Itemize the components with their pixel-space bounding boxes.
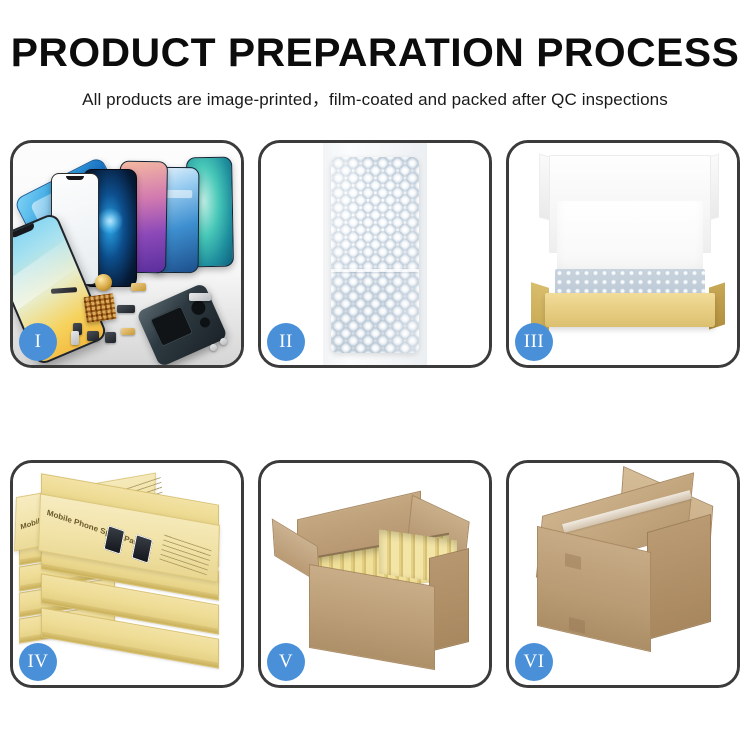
step-badge-2: II (267, 323, 305, 361)
small-part-b (87, 331, 99, 341)
phone-graphic-front-1 (104, 525, 125, 554)
step-badge-3: III (515, 323, 553, 361)
process-step-grid: I II III (10, 140, 740, 688)
step-badge-5: V (267, 643, 305, 681)
process-step-panel-4[interactable]: Mobile Phone Spare Parts Mobile Phone Sp… (10, 460, 244, 688)
small-part-e (121, 328, 135, 335)
carton-side-panel (647, 514, 711, 640)
retail-box-label-front: Mobile Phone Spare Parts (46, 508, 145, 549)
carton-right-side (429, 548, 469, 652)
white-foam-lining (557, 201, 703, 279)
process-step-panel-6[interactable]: VI (506, 460, 740, 688)
tweezers-tool (189, 293, 211, 301)
screw-part-b (210, 344, 217, 351)
step-badge-4: IV (19, 643, 57, 681)
page-header: PRODUCT PREPARATION PROCESS All products… (0, 0, 750, 110)
step-badge-1: I (19, 323, 57, 361)
phone-notch-icon (66, 176, 84, 180)
small-part-d (71, 331, 79, 345)
process-step-panel-5[interactable]: V (258, 460, 492, 688)
screw-part-a (220, 338, 227, 345)
process-step-panel-3[interactable]: III (506, 140, 740, 368)
small-part-c (105, 332, 116, 343)
phone-graphic-front-2 (131, 534, 152, 563)
speaker-component-icon (95, 274, 112, 291)
wrap-sheen (331, 157, 419, 353)
process-step-panel-1[interactable]: I (10, 140, 244, 368)
flex-cable-part (117, 305, 135, 313)
step-badge-6: VI (515, 643, 553, 681)
page-subtitle: All products are image-printed，film-coat… (0, 75, 750, 110)
spec-text-lines-front (160, 533, 212, 576)
process-step-panel-2[interactable]: II (258, 140, 492, 368)
mailer-front-panel (545, 293, 715, 327)
bubble-wrap-pouch (331, 157, 419, 353)
gold-contact-grid-part (83, 293, 116, 323)
page-title: PRODUCT PREPARATION PROCESS (0, 0, 750, 75)
small-part-f (131, 283, 146, 291)
